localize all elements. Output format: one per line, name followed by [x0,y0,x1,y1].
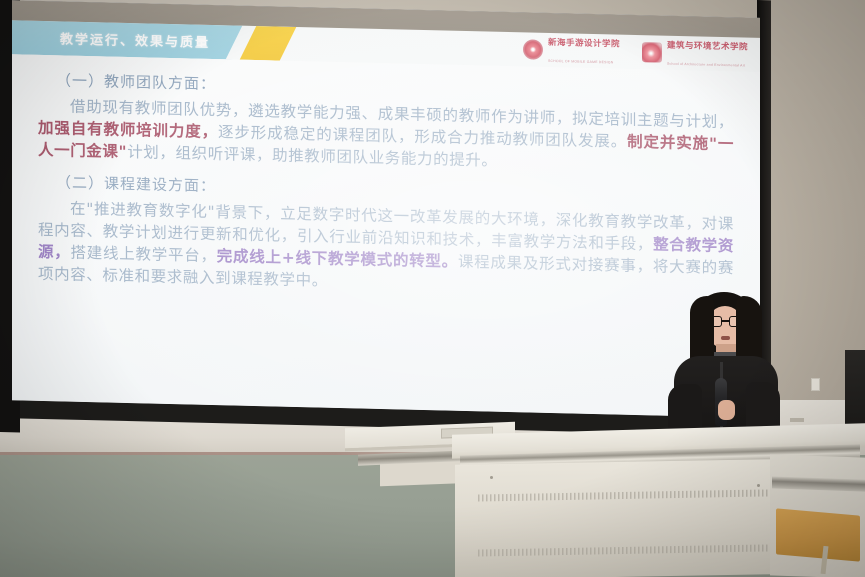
logo-name-cn: 新海手游设计学院 [548,38,620,50]
projection-screen: 教学运行、效果与质量 新海手游设计学院 SCHOOL OF MOBILE GAM… [12,0,760,418]
logo-school-of-mobile-game-design: 新海手游设计学院 SCHOOL OF MOBILE GAME DESIGN [523,33,620,69]
text-run: 计划，组织听评课，助推教师团队业务能力的提升。 [127,143,497,170]
text-run: 完成线上+线下教学模式的转型。 [217,247,458,271]
projection-screen-frame: 教学运行、效果与质量 新海手游设计学院 SCHOOL OF MOBILE GAM… [0,0,760,436]
slide-body: （一）教师团队方面： 借助现有教师团队优势，遴选教学能力强、成果丰硕的教师作为讲… [12,54,760,418]
hand [718,400,735,420]
slide-logo-group: 新海手游设计学院 SCHOOL OF MOBILE GAME DESIGN 建筑… [523,33,748,70]
wooden-chair [776,508,860,561]
logo-name-en: SCHOOL OF MOBILE GAME DESIGN [548,59,613,65]
slide-title: 教学运行、效果与质量 [60,28,210,51]
logo-name-en: School of Architecture and Environmental… [667,62,745,68]
wall-outlet [811,378,820,391]
lecture-room-photo: 教学运行、效果与质量 新海手游设计学院 SCHOOL OF MOBILE GAM… [0,0,865,577]
text-run: 加强自有教师培训力度， [38,119,218,141]
section-paragraph: 借助现有教师团队优势，遴选教学能力强、成果丰硕的教师作为讲师，拟定培训主题与计划… [38,95,734,177]
wall-mark [790,418,804,422]
panel-screw [490,476,493,479]
logo-school-of-architecture: 建筑与环境艺术学院 School of Architecture and Env… [642,35,748,71]
panel-screw [757,484,760,487]
lectern-front-panel [455,459,775,577]
spiral-emblem-icon [523,39,543,59]
section-paragraph: 在"推进教育数字化"背景下，立足数字时代这一改革发展的大环境，深化教育教学改革，… [38,197,734,301]
text-run: 搭建线上教学平台， [71,244,217,265]
logo-name-cn: 建筑与环境艺术学院 [667,41,748,53]
slide-section: （一）教师团队方面： 借助现有教师团队优势，遴选教学能力强、成果丰硕的教师作为讲… [38,69,734,177]
flame-emblem-icon [642,42,662,62]
slide-section: （二）课程建设方面： 在"推进教育数字化"背景下，立足数字时代这一改革发展的大环… [38,171,734,301]
mouth [721,336,730,340]
